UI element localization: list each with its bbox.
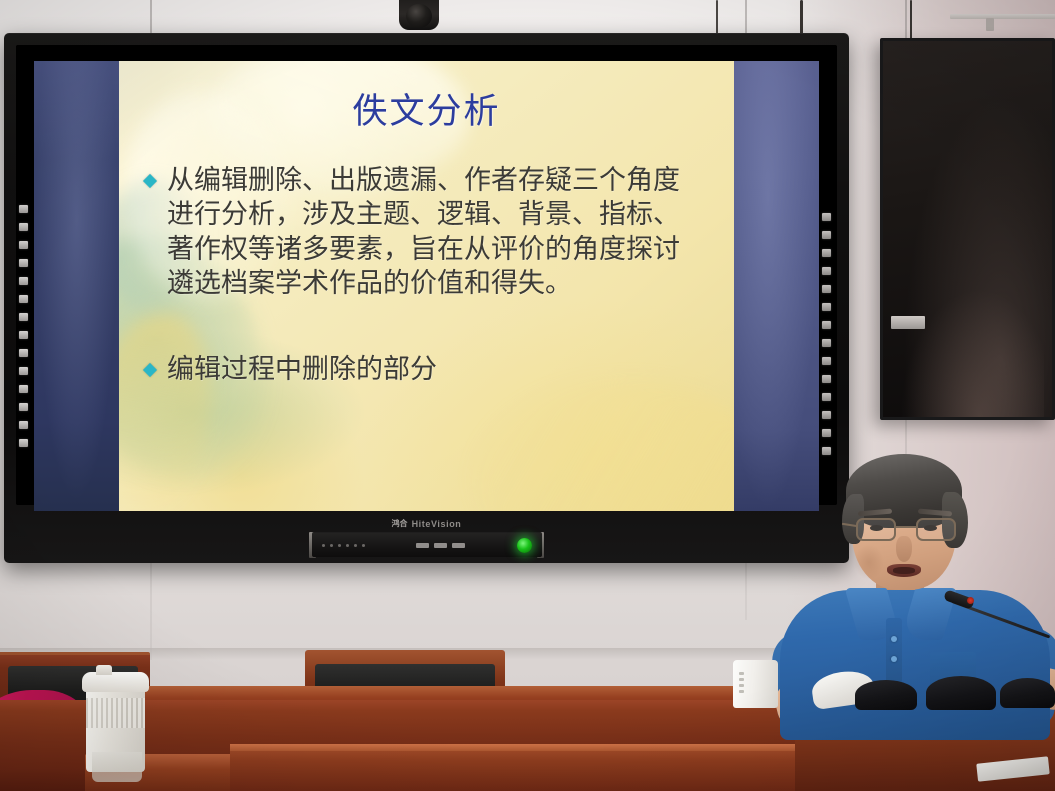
wall-rail: [950, 14, 1055, 19]
mouth-opening: [893, 567, 915, 574]
glasses-lens-left: [856, 518, 896, 541]
tick-icon: [346, 544, 349, 547]
presentation-screen[interactable]: 佚文分析 从编辑删除、出版遗漏、作者存疑三个角度进行分析，涉及主题、逻辑、背景、…: [34, 61, 819, 511]
control-tick-marks: [322, 544, 365, 547]
shirt-placket: [886, 618, 902, 684]
glasses-bridge: [896, 526, 916, 528]
power-led-icon[interactable]: [517, 538, 532, 553]
ir-sensor-dot: [822, 285, 831, 293]
ir-sensor-dot: [19, 259, 28, 267]
display-brand-en: HiteVision: [412, 519, 462, 529]
display-control-strip[interactable]: [312, 532, 542, 557]
slide-body: 从编辑删除、出版遗漏、作者存疑三个角度进行分析，涉及主题、逻辑、背景、指标、著作…: [145, 164, 734, 387]
ir-sensor-dot: [19, 421, 28, 429]
bullet-diamond-icon: [143, 363, 157, 377]
thermos-knob-icon[interactable]: [96, 665, 112, 675]
secondary-monitor-label: [891, 316, 925, 329]
ir-sensor-dot: [19, 367, 28, 375]
display-brand-cn: 鸿合: [392, 518, 408, 529]
camera-lens-icon: [406, 4, 432, 28]
control-buttons[interactable]: [416, 543, 465, 548]
ir-sensor-dot: [822, 321, 831, 329]
conference-mic-unit[interactable]: [1000, 678, 1055, 708]
slide-bullet-item: 编辑过程中删除的部分: [145, 353, 734, 387]
conference-mic-unit[interactable]: [855, 680, 917, 710]
control-button[interactable]: [434, 543, 447, 548]
ir-sensor-dot: [822, 339, 831, 347]
glasses-lens-right: [916, 518, 956, 541]
ir-sensor-dot: [19, 205, 28, 213]
control-button[interactable]: [416, 543, 429, 548]
ir-sensor-dot: [19, 277, 28, 285]
tick-icon: [354, 544, 357, 547]
wall-bracket: [986, 18, 994, 31]
mug-dot-icon: [739, 690, 744, 693]
ir-sensor-dot: [19, 403, 28, 411]
slide-canvas: 佚文分析 从编辑删除、出版遗漏、作者存疑三个角度进行分析，涉及主题、逻辑、背景、…: [119, 61, 734, 511]
ir-sensor-dot: [19, 331, 28, 339]
thermos-glass-base: [92, 752, 142, 782]
nose: [896, 536, 912, 562]
slide-bullet-item: 从编辑删除、出版遗漏、作者存疑三个角度进行分析，涉及主题、逻辑、背景、指标、著作…: [145, 164, 734, 301]
slide: 佚文分析 从编辑删除、出版遗漏、作者存疑三个角度进行分析，涉及主题、逻辑、背景、…: [34, 61, 819, 511]
tick-icon: [338, 544, 341, 547]
secondary-monitor-reflection: [900, 289, 1044, 417]
ir-sensor-dot: [19, 349, 28, 357]
ir-sensor-dot: [822, 393, 831, 401]
tick-icon: [362, 544, 365, 547]
mug-dot-icon: [739, 672, 744, 675]
ir-sensor-dot: [822, 231, 831, 239]
ir-sensor-dot: [822, 357, 831, 365]
ceiling-camera-icon: [399, 0, 439, 30]
ir-sensor-dot: [822, 411, 831, 419]
secondary-monitor[interactable]: [880, 38, 1055, 420]
ir-sensor-dot: [822, 375, 831, 383]
display-brand: 鸿合 HiteVision: [4, 518, 849, 529]
ir-sensor-dot: [19, 385, 28, 393]
thermos-lid[interactable]: [82, 672, 149, 692]
tick-icon: [330, 544, 333, 547]
interactive-flat-panel[interactable]: 佚文分析 从编辑删除、出版遗漏、作者存疑三个角度进行分析，涉及主题、逻辑、背景、…: [4, 33, 849, 563]
ir-sensor-dot: [822, 213, 831, 221]
ir-sensor-dot: [19, 439, 28, 447]
ir-sensor-dot: [822, 303, 831, 311]
face-shading: [854, 544, 884, 580]
ir-sensor-strip-left: [19, 205, 28, 447]
ir-sensor-dot: [822, 429, 831, 437]
lecture-room-scene: 佚文分析 从编辑删除、出版遗漏、作者存疑三个角度进行分析，涉及主题、逻辑、背景、…: [0, 0, 1055, 791]
ir-sensor-dot: [19, 313, 28, 321]
ir-sensor-dot: [822, 267, 831, 275]
slide-bullet-text: 从编辑删除、出版遗漏、作者存疑三个角度进行分析，涉及主题、逻辑、背景、指标、著作…: [167, 164, 697, 301]
mug-dot-icon: [739, 684, 744, 687]
ir-sensor-dot: [822, 249, 831, 257]
control-button[interactable]: [452, 543, 465, 548]
mug-dot-icon: [739, 678, 744, 681]
conference-mic-unit[interactable]: [926, 676, 996, 710]
slide-bullet-text: 编辑过程中删除的部分: [167, 353, 437, 387]
ir-sensor-dot: [19, 295, 28, 303]
shirt-button-icon: [891, 636, 897, 642]
slide-decoration-swirl: [474, 381, 734, 511]
microphone-indicator-icon: [967, 597, 974, 604]
ir-sensor-strip-right: [822, 213, 831, 455]
ir-sensor-dot: [19, 223, 28, 231]
bullet-diamond-icon: [143, 174, 157, 188]
slide-side-panel-left: [34, 61, 119, 511]
slide-title: 佚文分析: [119, 83, 734, 134]
thermos-sleeve: [86, 698, 145, 728]
ir-sensor-dot: [19, 241, 28, 249]
shirt-button-icon: [891, 656, 897, 662]
mug-texture: [739, 672, 744, 693]
tick-icon: [322, 544, 325, 547]
